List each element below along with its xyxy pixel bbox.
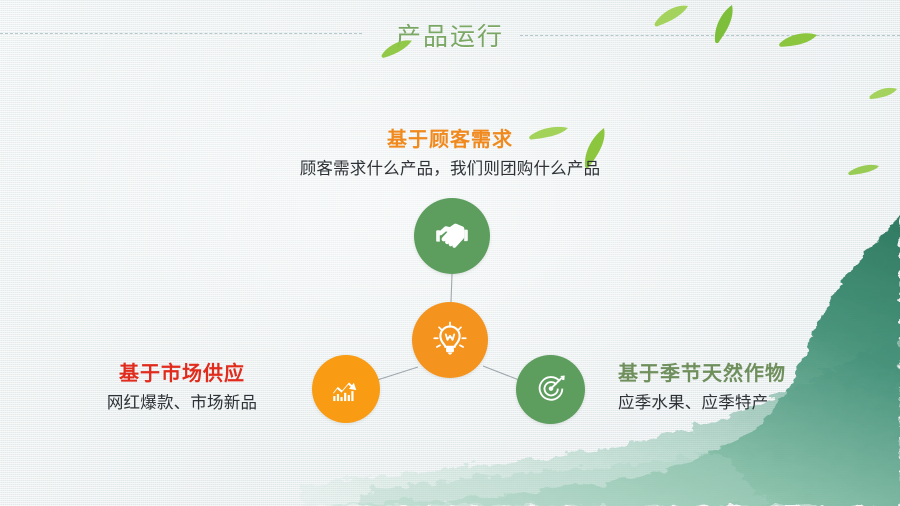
block-heading: 基于季节天然作物 xyxy=(618,362,854,387)
slide-canvas: 产品运行 xyxy=(0,0,900,506)
handshake-icon xyxy=(432,216,472,256)
connector-center-right xyxy=(483,366,519,380)
target-icon xyxy=(534,373,568,407)
page-title: 产品运行 xyxy=(0,17,900,53)
text-block-market-supply: 基于市场供应 网红爆款、市场新品 xyxy=(64,362,300,414)
connector-center-top xyxy=(451,274,452,302)
node-market-supply[interactable] xyxy=(312,355,380,423)
node-seasonal-crops[interactable] xyxy=(516,355,585,424)
node-product-operation-core[interactable] xyxy=(412,302,488,378)
block-subtitle: 网红爆款、市场新品 xyxy=(64,393,300,414)
block-heading: 基于市场供应 xyxy=(64,362,300,387)
leaf-icon xyxy=(868,86,898,108)
lightbulb-icon xyxy=(429,319,471,361)
text-block-customer-demand: 基于顾客需求 顾客需求什么产品，我们则团购什么产品 xyxy=(0,128,900,180)
watercolor-brush xyxy=(300,215,900,506)
block-heading: 基于顾客需求 xyxy=(0,128,900,153)
connector-center-left xyxy=(374,367,418,381)
growth-chart-icon xyxy=(329,372,363,406)
block-subtitle: 应季水果、应季特产 xyxy=(618,393,854,414)
node-customer-demand[interactable] xyxy=(414,198,490,274)
block-subtitle: 顾客需求什么产品，我们则团购什么产品 xyxy=(0,159,900,180)
text-block-seasonal-crops: 基于季节天然作物 应季水果、应季特产 xyxy=(618,362,854,414)
